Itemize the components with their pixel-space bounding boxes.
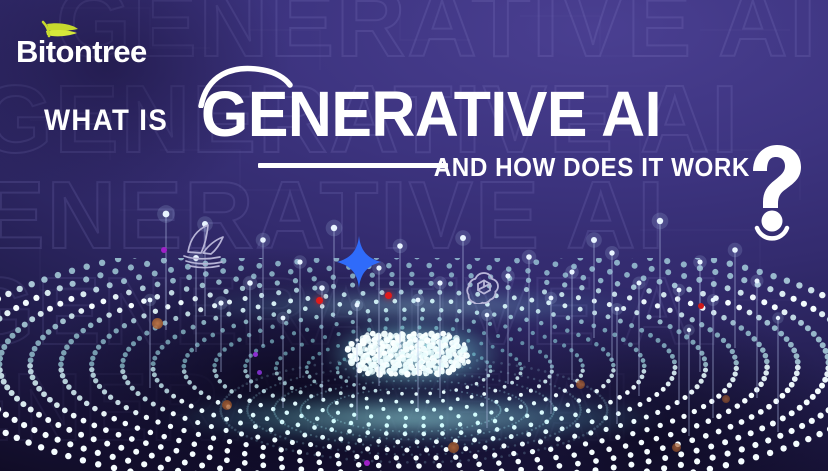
- vortex-visualization: [0, 258, 828, 471]
- headline-rule: [258, 163, 448, 168]
- accent-dot-magenta: [253, 352, 258, 357]
- accent-dot-red: [316, 297, 323, 304]
- bitontree-logo[interactable]: Bitontree: [16, 18, 176, 70]
- swoosh-arc-icon: [197, 62, 293, 108]
- headline-subtitle: AND HOW DOES IT WORK: [434, 152, 750, 183]
- question-mark-icon: [742, 142, 808, 242]
- accent-dot-magenta: [364, 460, 370, 466]
- vortex-core-dots: [0, 258, 828, 471]
- accent-dot-orange: [672, 443, 681, 452]
- accent-dot-orange: [152, 318, 163, 329]
- accent-dot-red: [698, 303, 704, 309]
- accent-dot-orange: [722, 395, 730, 403]
- accent-dot-magenta: [161, 247, 167, 253]
- accent-dot-magenta: [257, 370, 262, 375]
- midjourney-logo-icon: [176, 222, 232, 270]
- gemini-star-icon: [337, 236, 381, 288]
- headline-title: GENERATIVE AI: [201, 84, 661, 145]
- hero-banner: GENERATIVE AI GENERATIVE AI GENERATIVE A…: [0, 0, 828, 471]
- accent-dot-orange: [448, 442, 459, 453]
- bitontree-wordmark: Bitontree: [16, 34, 147, 69]
- headline-block: WHAT IS GENERATIVE AI AND HOW DOES IT WO…: [0, 66, 828, 191]
- headline-line-1: WHAT IS GENERATIVE AI: [44, 84, 685, 145]
- openai-logo-icon: [466, 268, 502, 304]
- ghost-text-row: GENERATIVE AI: [0, 72, 740, 168]
- accent-dot-orange: [576, 380, 585, 389]
- ghost-text-row: GENERATIVE AI: [0, 168, 666, 264]
- accent-dot-red: [385, 292, 392, 299]
- headline-line-2: AND HOW DOES IT WORK: [410, 152, 750, 183]
- headline-eyebrow: WHAT IS: [44, 104, 168, 138]
- accent-dot-orange: [222, 400, 232, 410]
